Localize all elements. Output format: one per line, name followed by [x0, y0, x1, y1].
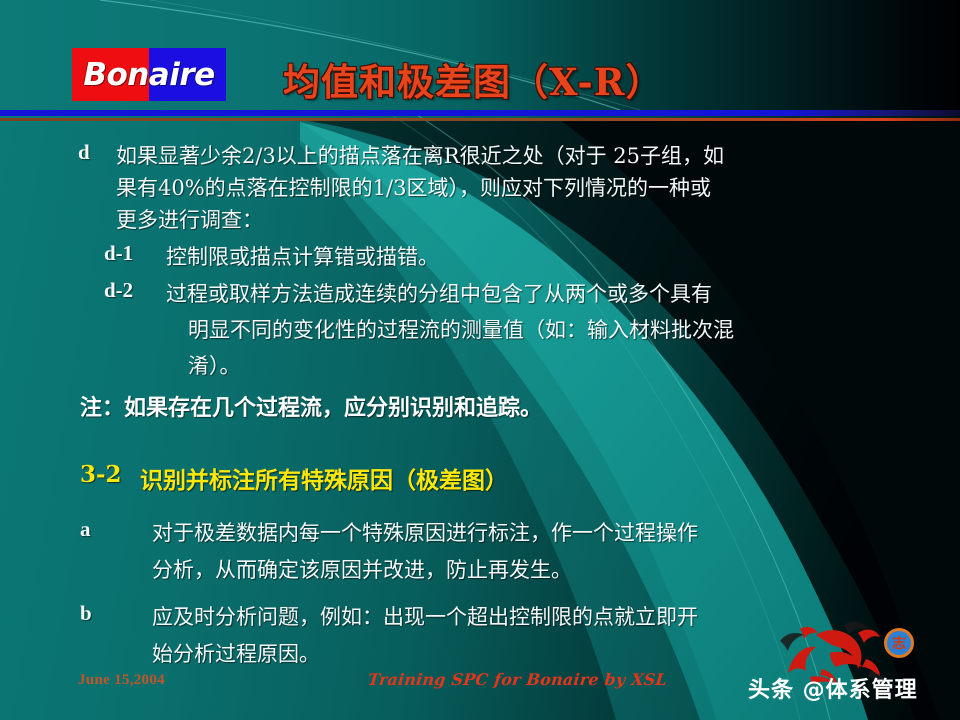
- bonaire-logo: Bonaire: [72, 48, 226, 101]
- bullet-a-line-1: 对于极差数据内每一个特殊原因进行标注，作一个过程操作: [152, 517, 698, 547]
- bullet-marker-d-1: d-1: [104, 241, 133, 266]
- header-divider-blue: [0, 110, 960, 116]
- bullet-d-line-3: 更多进行调查：: [116, 204, 263, 234]
- bullet-marker-d: d: [78, 140, 90, 165]
- bullet-d-2-line-1: 过程或取样方法造成连续的分组中包含了从两个或多个具有: [166, 278, 712, 308]
- dragon-badge-icon: 志: [884, 628, 914, 658]
- logo-wordmark: Bonaire: [72, 48, 226, 101]
- bullet-d-line-2: 果有40%的点落在控制限的1/3区域），则应对下列情况的一种或: [116, 172, 711, 202]
- section-title: 识别并标注所有特殊原因（极差图）: [140, 461, 508, 495]
- bullet-b-line-1: 应及时分析问题，例如：出现一个超出控制限的点就立即开: [152, 601, 698, 631]
- bullet-d-2-line-3: 淆）。: [188, 350, 241, 380]
- footer-tagline: Training SPC for Bonaire by XSL: [367, 670, 668, 689]
- bullet-marker-a: a: [80, 517, 91, 542]
- bullet-d-line-1: 如果显著少余2/3以上的描点落在离R很近之处（对于 25子组，如: [116, 140, 724, 170]
- slide-header: Bonaire 均值和极差图（X-R）: [0, 0, 960, 110]
- footer-date: June 15,2004: [78, 672, 165, 689]
- bullet-d-2-line-2: 明显不同的变化性的过程流的测量值（如：输入材料批次混: [188, 314, 734, 344]
- slide-title: 均值和极差图（X-R）: [283, 52, 664, 106]
- watermark-text: 头条 @体系管理: [748, 672, 918, 704]
- presentation-slide: Bonaire 均值和极差图（X-R） d 如果显著少余2/3以上的描点落在离R…: [0, 0, 960, 720]
- bullet-b-line-2: 始分析过程原因。: [152, 638, 320, 668]
- bullet-marker-d-2: d-2: [104, 278, 133, 303]
- section-number: 3-2: [80, 461, 122, 488]
- bullet-a-line-2: 分析，从而确定该原因并改进，防止再发生。: [152, 554, 572, 584]
- note-line: 注：如果存在几个过程流，应分别识别和追踪。: [80, 390, 542, 422]
- bullet-marker-b: b: [80, 601, 92, 626]
- bullet-d-1-line-1: 控制限或描点计算错或描错。: [166, 241, 439, 271]
- header-divider-brown: [0, 118, 960, 121]
